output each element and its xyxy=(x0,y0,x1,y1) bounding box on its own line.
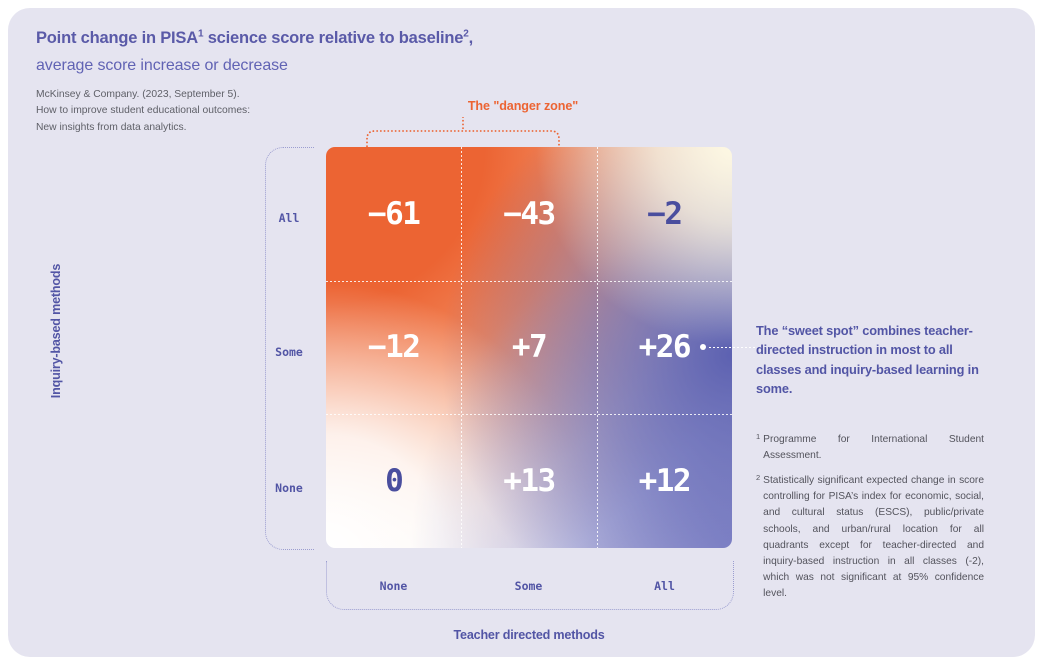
x-axis-tick-some: Some xyxy=(461,579,596,593)
heatmap-cell[interactable]: +7 xyxy=(461,281,596,415)
infographic-card: Point change in PISA1 science score rela… xyxy=(8,8,1035,657)
sweet-spot-connector-dot xyxy=(700,344,706,350)
heatmap-cell[interactable]: −43 xyxy=(461,147,596,281)
heatmap-cell[interactable]: −2 xyxy=(597,147,732,281)
heatmap-cell-grid: −61 −43 −2 −12 +7 +26 0 +13 +12 xyxy=(326,147,732,548)
sweet-spot-annotation: The “sweet spot” combines teacher-direct… xyxy=(756,321,988,399)
header: Point change in PISA1 science score rela… xyxy=(36,28,656,137)
x-axis-title: Teacher directed methods xyxy=(326,628,732,642)
heatmap-cell[interactable]: 0 xyxy=(326,414,461,548)
footnote-text: Programme for International Student Asse… xyxy=(760,432,984,464)
heatmap-cell[interactable]: −12 xyxy=(326,281,461,415)
danger-zone-label: The "danger zone" xyxy=(328,99,718,113)
y-axis-tick-some: Some xyxy=(265,345,313,359)
heatmap-cell[interactable]: −61 xyxy=(326,147,461,281)
footnote-item: 2 Statistically significant expected cha… xyxy=(756,473,984,602)
footnotes: 1 Programme for International Student As… xyxy=(756,432,984,611)
y-axis-tick-none: None xyxy=(265,481,313,495)
page-title: Point change in PISA1 science score rela… xyxy=(36,28,656,49)
citation-line-3: New insights from data analytics. xyxy=(36,120,656,137)
y-axis-title: Inquiry-based methods xyxy=(49,211,63,451)
title-end: , xyxy=(469,29,473,47)
heatmap-cell[interactable]: +12 xyxy=(597,414,732,548)
footnote-text: Statistically significant expected chang… xyxy=(760,473,984,602)
heatmap-cell[interactable]: +13 xyxy=(461,414,596,548)
page-subtitle: average score increase or decrease xyxy=(36,56,656,76)
footnote-item: 1 Programme for International Student As… xyxy=(756,432,984,464)
y-axis-tick-all: All xyxy=(265,211,313,225)
title-rest: science score relative to baseline xyxy=(203,29,463,47)
heatmap: −61 −43 −2 −12 +7 +26 0 +13 +12 xyxy=(326,147,732,548)
title-main: Point change in PISA xyxy=(36,29,198,47)
x-axis-tick-none: None xyxy=(326,579,461,593)
heatmap-gradient-surface: −61 −43 −2 −12 +7 +26 0 +13 +12 xyxy=(326,147,732,548)
x-axis-tick-all: All xyxy=(597,579,732,593)
